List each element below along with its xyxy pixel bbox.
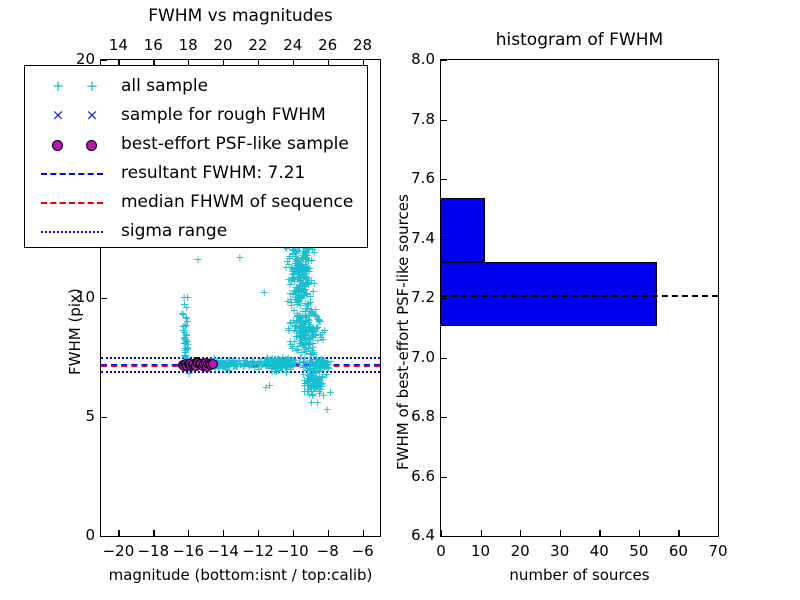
legend-item-label: best-effort PSF-like sample xyxy=(121,134,349,154)
scatter-yticklabel: 0 xyxy=(57,528,95,543)
scatter-point-all: + xyxy=(301,263,310,270)
scatter-topticklabel: 18 xyxy=(172,38,204,53)
legend-marker xyxy=(77,130,107,160)
legend-item-label: sigma range xyxy=(121,221,227,241)
histogram-ytick xyxy=(441,417,447,418)
cross-x-icon: × xyxy=(86,108,99,123)
histogram-xticklabel: 50 xyxy=(623,544,655,559)
histogram-yticklabel: 6.6 xyxy=(393,469,435,484)
scatter-xticklabel: −20 xyxy=(102,544,134,559)
cross-x-icon: × xyxy=(52,108,65,123)
legend-marker: × xyxy=(43,101,73,131)
scatter-xticklabel: −6 xyxy=(347,544,379,559)
histogram-xticklabel: 20 xyxy=(504,544,536,559)
scatter-xtick xyxy=(118,530,119,536)
histogram-ytick xyxy=(441,536,447,537)
scatter-point-all: + xyxy=(297,275,306,282)
legend-item[interactable]: resultant FWHM: 7.21 xyxy=(25,159,367,189)
histogram-xticklabel: 70 xyxy=(702,544,734,559)
legend-marker: + xyxy=(43,72,73,102)
histogram-xtick xyxy=(560,530,561,536)
scatter-point-all: + xyxy=(289,290,298,297)
scatter-point-all: + xyxy=(322,406,331,413)
scatter-xticklabel: −16 xyxy=(172,544,204,559)
scatter-xtick xyxy=(223,530,224,536)
histogram-xtick xyxy=(481,530,482,536)
scatter-point-all: + xyxy=(305,308,314,315)
scatter-point-all: + xyxy=(307,399,316,406)
histogram-yticklabel: 6.8 xyxy=(393,409,435,424)
scatter-point-all: + xyxy=(220,360,229,367)
legend-item[interactable]: sigma range xyxy=(25,217,367,247)
scatter-topticklabel: 24 xyxy=(277,38,309,53)
legend-item-label: all sample xyxy=(121,76,208,96)
scatter-point-all: + xyxy=(259,360,268,367)
scatter-yticklabel: 5 xyxy=(57,409,95,424)
scatter-xticklabel: −8 xyxy=(312,544,344,559)
scatter-yticklabel: 10 xyxy=(57,290,95,305)
scatter-xtick xyxy=(328,530,329,536)
scatter-point-all: + xyxy=(265,382,274,389)
scatter-topticklabel: 16 xyxy=(137,38,169,53)
scatter-point-all: + xyxy=(300,319,309,326)
dashed-line-icon xyxy=(41,202,103,204)
histogram-xticklabel: 40 xyxy=(583,544,615,559)
scatter-point-all: + xyxy=(284,276,293,283)
plus-icon: + xyxy=(52,79,65,94)
scatter-point-psf xyxy=(208,359,218,369)
scatter-point-all: + xyxy=(294,333,303,340)
scatter-point-all: + xyxy=(181,334,190,341)
legend-item-label: resultant FWHM: 7.21 xyxy=(121,163,305,183)
legend-item[interactable]: ××sample for rough FWHM xyxy=(25,101,367,131)
scatter-topticklabel: 22 xyxy=(242,38,274,53)
legend-marker: × xyxy=(77,101,107,131)
scatter-ytick xyxy=(101,60,107,61)
scatter-xtick xyxy=(363,530,364,536)
histogram-xticklabel: 10 xyxy=(465,544,497,559)
dashed-line-icon xyxy=(41,173,103,175)
histogram-ytick xyxy=(441,239,447,240)
histogram-xtick xyxy=(599,530,600,536)
scatter-xtick xyxy=(293,530,294,536)
histogram-ytick xyxy=(441,358,447,359)
scatter-xticklabel: −14 xyxy=(207,544,239,559)
scatter-xticklabel: −10 xyxy=(277,544,309,559)
legend-item[interactable]: best-effort PSF-like sample xyxy=(25,130,367,160)
scatter-ytick xyxy=(101,536,107,537)
scatter-point-all: + xyxy=(326,389,335,396)
histogram-ytick xyxy=(441,120,447,121)
histogram-xtick xyxy=(718,530,719,536)
scatter-xticklabel: −18 xyxy=(137,544,169,559)
histogram-yticklabel: 7.8 xyxy=(393,112,435,127)
legend-item[interactable]: ++all sample xyxy=(25,72,367,102)
histogram-xticklabel: 60 xyxy=(662,544,694,559)
scatter-ytick xyxy=(101,417,107,418)
histogram-xlabel: number of sources xyxy=(440,568,719,583)
histogram-bar xyxy=(441,198,485,262)
histogram-xtick xyxy=(520,530,521,536)
histogram-ytick xyxy=(441,179,447,180)
legend-item-label: sample for rough FWHM xyxy=(121,105,326,125)
scatter-point-all: + xyxy=(260,289,269,296)
histogram-refline xyxy=(441,295,718,297)
histogram-plot-area xyxy=(441,60,718,536)
histogram-xticklabel: 30 xyxy=(544,544,576,559)
scatter-point-all: + xyxy=(311,380,320,387)
filled-circle-icon xyxy=(52,140,63,151)
figure-canvas: FWHM vs magnitudes +++++++++++++++++++++… xyxy=(0,0,800,600)
histogram-yticklabel: 6.4 xyxy=(393,528,435,543)
scatter-point-all: + xyxy=(305,332,314,339)
histogram-ytick xyxy=(441,298,447,299)
scatter-point-all: + xyxy=(183,294,192,301)
scatter-point-all: + xyxy=(317,334,326,341)
scatter-ytick xyxy=(101,298,107,299)
scatter-point-all: + xyxy=(277,362,286,369)
histogram-xtick xyxy=(639,530,640,536)
plus-icon: + xyxy=(86,79,99,94)
legend-marker: + xyxy=(77,72,107,102)
scatter-xtick xyxy=(153,530,154,536)
scatter-xlabel: magnitude (bottom:isnt / top:calib) xyxy=(0,568,481,583)
scatter-topticklabel: 20 xyxy=(207,38,239,53)
histogram-ytick xyxy=(441,60,447,61)
scatter-xtick xyxy=(188,530,189,536)
histogram-yticklabel: 7.0 xyxy=(393,350,435,365)
scatter-title: FWHM vs magnitudes xyxy=(0,8,481,25)
histogram-yticklabel: 8.0 xyxy=(393,52,435,67)
scatter-point-all: + xyxy=(314,316,323,323)
legend-box: ++all sample××sample for rough FWHMbest-… xyxy=(24,65,368,248)
legend-marker xyxy=(43,130,73,160)
legend-item[interactable]: median FHWM of sequence xyxy=(25,188,367,218)
histogram-ytick xyxy=(441,477,447,478)
dash-dot-line-icon xyxy=(41,231,103,233)
histogram-yticklabel: 7.2 xyxy=(393,290,435,305)
scatter-topticklabel: 26 xyxy=(312,38,344,53)
scatter-point-all: + xyxy=(317,362,326,369)
scatter-topticklabel: 14 xyxy=(102,38,134,53)
legend-item-label: median FHWM of sequence xyxy=(121,192,353,212)
histogram-xtick xyxy=(678,530,679,536)
histogram-xticklabel: 0 xyxy=(425,544,457,559)
filled-circle-icon xyxy=(86,140,97,151)
histogram-yticklabel: 7.6 xyxy=(393,171,435,186)
scatter-xticklabel: −12 xyxy=(242,544,274,559)
scatter-topticklabel: 28 xyxy=(347,38,379,53)
scatter-xtick xyxy=(258,530,259,536)
scatter-point-all: + xyxy=(180,322,189,329)
histogram-yticklabel: 7.4 xyxy=(393,231,435,246)
histogram-title: histogram of FWHM xyxy=(440,32,719,49)
scatter-point-all: + xyxy=(247,360,256,367)
scatter-point-all: + xyxy=(235,254,244,261)
scatter-point-all: + xyxy=(193,256,202,263)
